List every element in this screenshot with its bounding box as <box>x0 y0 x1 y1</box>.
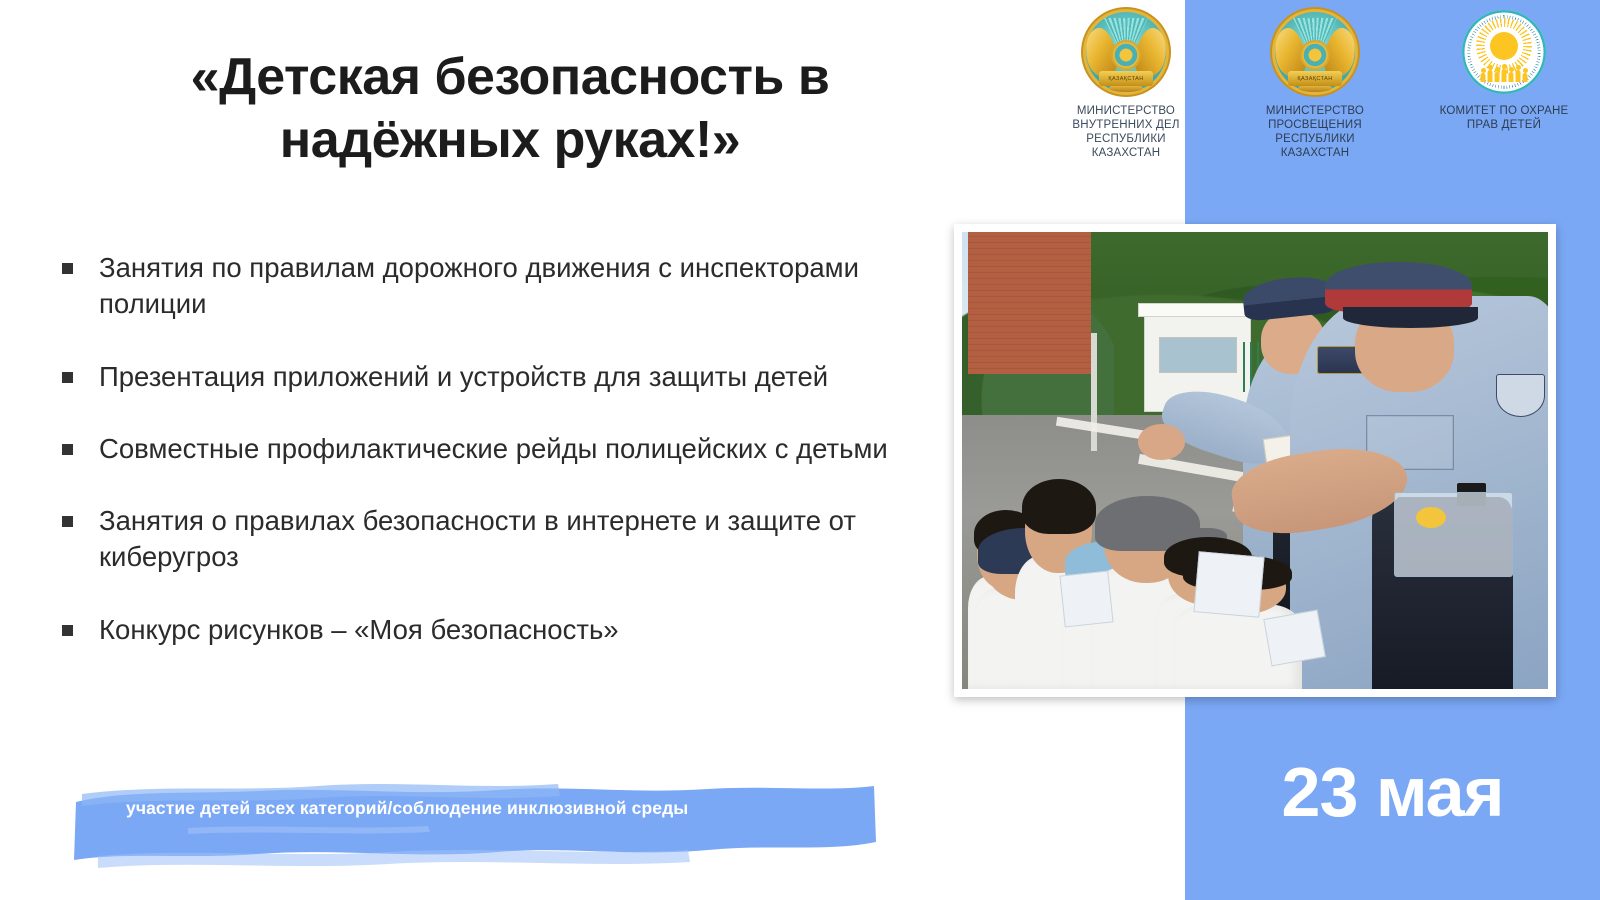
square-bullet-icon <box>62 263 73 274</box>
list-item: Занятия о правилах безопасности в интерн… <box>62 503 942 576</box>
emblem-ribbon-label: ҚАЗАҚСТАН <box>1288 71 1342 86</box>
kazakhstan-state-emblem-icon: ҚАЗАҚСТАН <box>1080 6 1172 98</box>
brush-stroke-shape <box>68 772 880 870</box>
kazakhstan-state-emblem-icon: ҚАЗАҚСТАН <box>1269 6 1361 98</box>
logo-ministry-education: ҚАЗАҚСТАН МИНИСТЕРСТВО ПРОСВЕЩЕНИЯ РЕСПУ… <box>1224 6 1406 160</box>
logo-caption: КОМИТЕТ ПО ОХРАНЕ ПРАВ ДЕТЕЙ <box>1440 104 1569 132</box>
list-item-label: Совместные профилактические рейды полице… <box>99 431 888 467</box>
children-rights-sun-badge-icon <box>1458 6 1550 98</box>
list-item: Конкурс рисунков – «Моя безопасность» <box>62 612 942 648</box>
logo-caption: МИНИСТЕРСТВО ПРОСВЕЩЕНИЯ РЕСПУБЛИКИ КАЗА… <box>1266 104 1364 160</box>
square-bullet-icon <box>62 625 73 636</box>
list-item: Совместные профилактические рейды полице… <box>62 431 942 467</box>
list-item: Презентация приложений и устройств для з… <box>62 359 942 395</box>
inclusive-environment-banner: участие детей всех категорий/соблюдение … <box>68 772 880 870</box>
logo-caption: МИНИСТЕРСТВО ВНУТРЕННИХ ДЕЛ РЕСПУБЛИКИ К… <box>1072 104 1179 160</box>
list-item: Занятия по правилам дорожного движения с… <box>62 250 942 323</box>
emblem-ribbon-label: ҚАЗАҚСТАН <box>1099 71 1153 86</box>
event-date: 23 мая <box>1185 752 1600 832</box>
square-bullet-icon <box>62 444 73 455</box>
police-with-children-photo <box>962 232 1548 689</box>
list-item-label: Занятия по правилам дорожного движения с… <box>99 250 942 323</box>
square-bullet-icon <box>62 516 73 527</box>
square-bullet-icon <box>62 372 73 383</box>
slide-title: «Детская безопасность в надёжных руках!» <box>60 46 960 173</box>
logo-ministry-internal-affairs: ҚАЗАҚСТАН МИНИСТЕРСТВО ВНУТРЕННИХ ДЕЛ РЕ… <box>1035 6 1217 160</box>
list-item-label: Занятия о правилах безопасности в интерн… <box>99 503 942 576</box>
photo-frame <box>954 224 1556 697</box>
logo-children-rights-committee: КОМИТЕТ ПО ОХРАНЕ ПРАВ ДЕТЕЙ <box>1413 6 1595 132</box>
banner-label: участие детей всех категорий/соблюдение … <box>126 798 846 819</box>
activities-list: Занятия по правилам дорожного движения с… <box>62 250 942 684</box>
presentation-slide: ҚАЗАҚСТАН МИНИСТЕРСТВО ВНУТРЕННИХ ДЕЛ РЕ… <box>0 0 1600 900</box>
logos-row: ҚАЗАҚСТАН МИНИСТЕРСТВО ВНУТРЕННИХ ДЕЛ РЕ… <box>1035 6 1595 186</box>
list-item-label: Конкурс рисунков – «Моя безопасность» <box>99 612 619 648</box>
list-item-label: Презентация приложений и устройств для з… <box>99 359 828 395</box>
